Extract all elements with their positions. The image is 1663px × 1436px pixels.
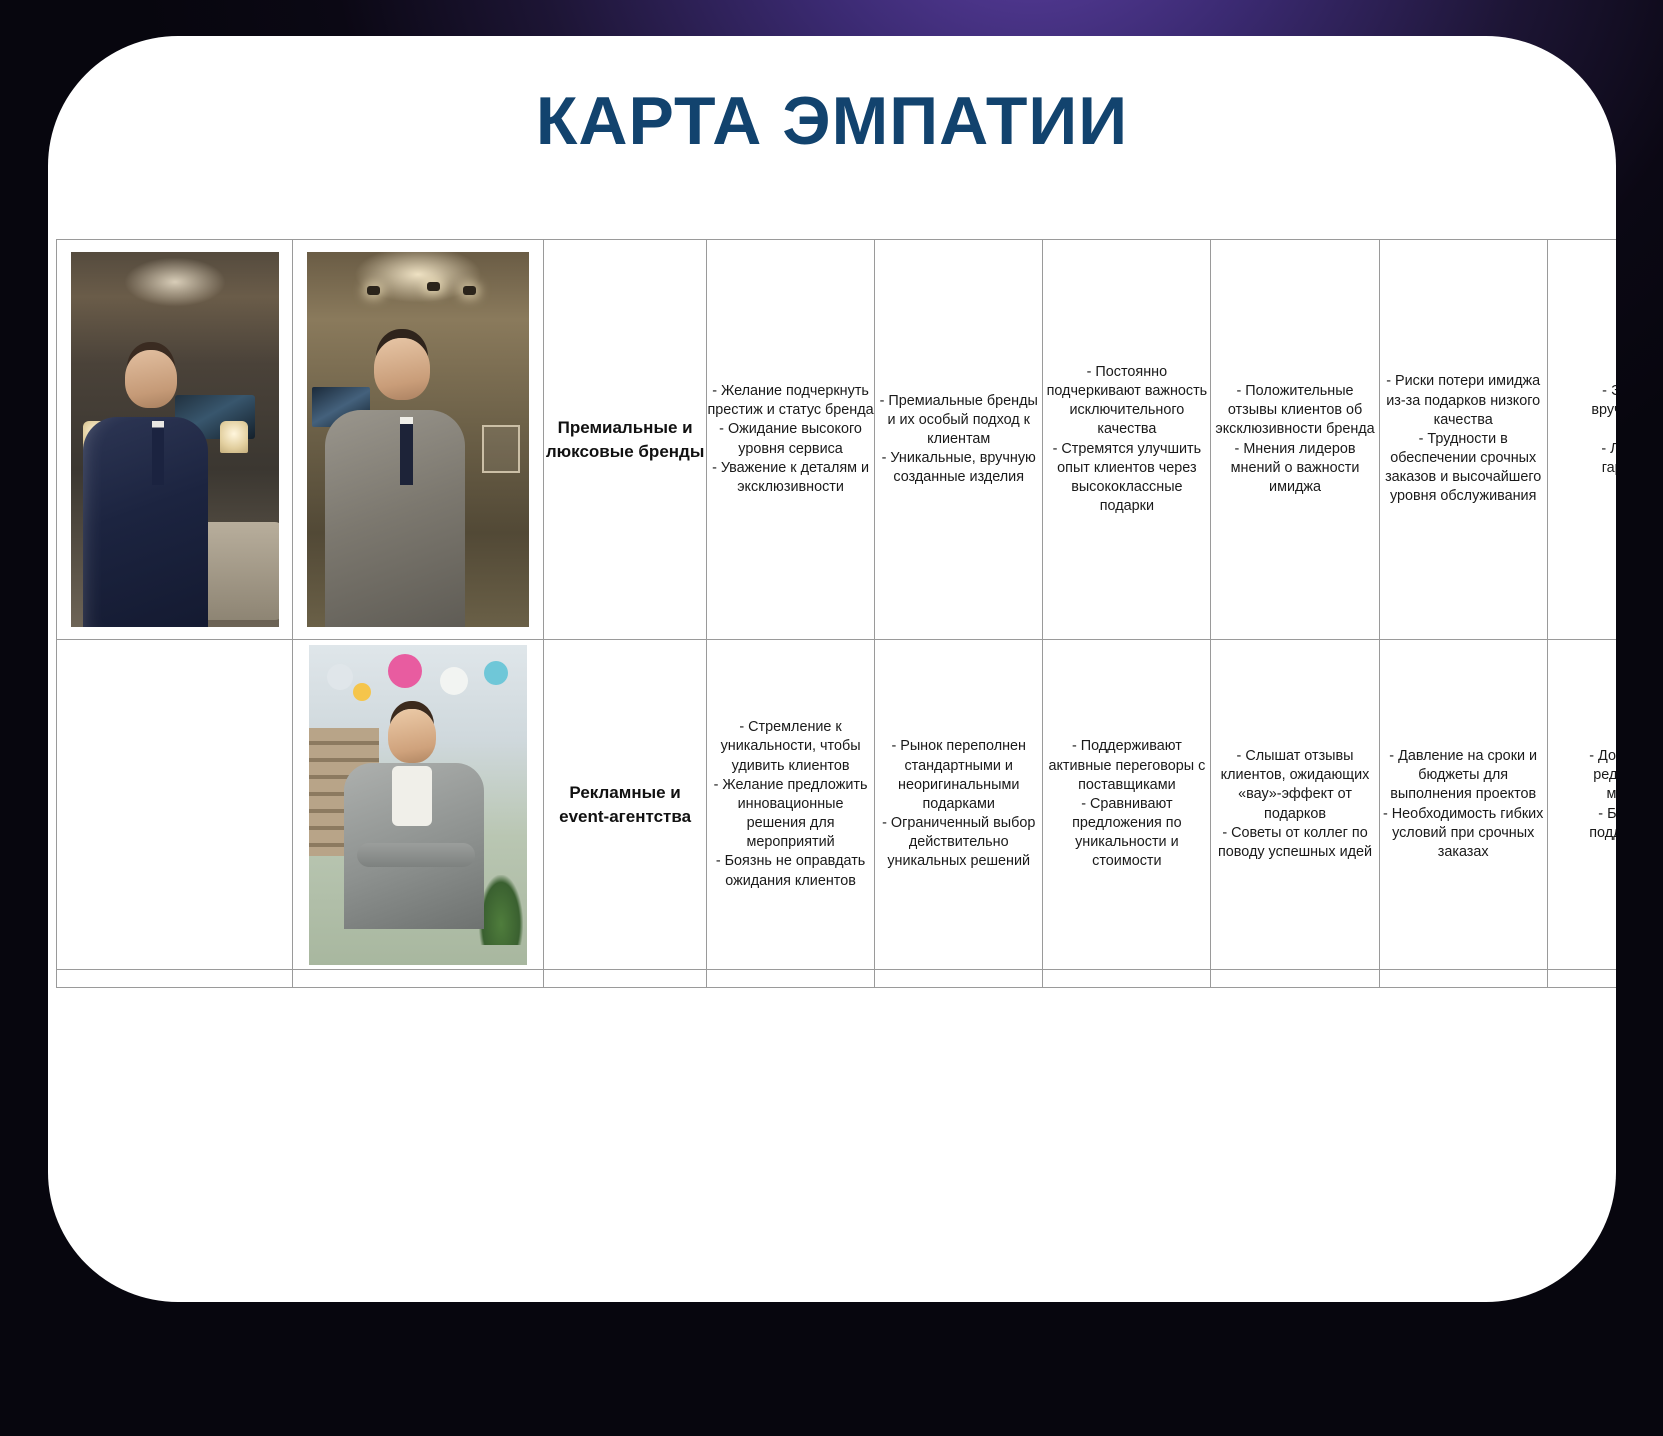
shirt-shape bbox=[392, 766, 432, 826]
paper-lantern-icon bbox=[440, 667, 468, 695]
row-3-hear-cell bbox=[1211, 970, 1379, 988]
row-3-think-feel-cell bbox=[706, 970, 874, 988]
cell-think-feel-premium: - Желание подчеркнуть престиж и статус б… bbox=[706, 240, 874, 640]
lamp-icon bbox=[220, 421, 248, 453]
cell-gains-agencies: - Доступ к кр редким под меропр - Быстра… bbox=[1547, 640, 1616, 970]
row-1-photo-a-cell bbox=[57, 240, 293, 640]
row-3-photo-a-cell bbox=[57, 970, 293, 988]
spotlight-icon bbox=[463, 286, 476, 295]
lamp-icon bbox=[83, 421, 109, 451]
paper-lantern-icon bbox=[353, 683, 371, 701]
creative-agency-manager-photo bbox=[309, 645, 527, 965]
cell-gains-premium: - Эксклю вручную изг пода - Личный гаран… bbox=[1547, 240, 1616, 640]
premium-executive-grey-suit-photo bbox=[307, 252, 529, 627]
segment-label-agencies: Рекламные и event-агентства bbox=[544, 640, 707, 970]
cell-think-feel-agencies: - Стремление к уникальности, чтобы удиви… bbox=[706, 640, 874, 970]
cell-pains-agencies: - Давление на сроки и бюджеты для выполн… bbox=[1379, 640, 1547, 970]
paper-lantern-icon bbox=[388, 654, 422, 688]
shelf-shape bbox=[309, 728, 379, 856]
row-2-photo-b-cell bbox=[293, 640, 544, 970]
spotlight-icon bbox=[427, 282, 440, 291]
table-row: Премиальные и люксовые бренды - Желание … bbox=[57, 240, 1617, 640]
sofa-shape bbox=[154, 522, 279, 620]
cell-say-do-premium: - Постоянно подчеркивают важность исключ… bbox=[1043, 240, 1211, 640]
wall-art-shape bbox=[312, 387, 370, 427]
row-3-photo-b-cell bbox=[293, 970, 544, 988]
white-content-card: КАРТА ЭМПАТИИ bbox=[48, 36, 1616, 1302]
row-1-photo-b-cell bbox=[293, 240, 544, 640]
necktie-shape bbox=[400, 417, 413, 485]
empathy-map-table: Премиальные и люксовые бренды - Желание … bbox=[56, 239, 1616, 988]
cell-see-premium: - Премиальные бренды и их особый подход … bbox=[875, 240, 1043, 640]
segment-label-premium: Премиальные и люксовые бренды bbox=[544, 240, 707, 640]
row-3-see-cell bbox=[875, 970, 1043, 988]
necktie-shape bbox=[152, 421, 164, 485]
spotlight-icon bbox=[367, 286, 380, 295]
row-3-segment-cell bbox=[544, 970, 707, 988]
paper-lantern-icon bbox=[327, 664, 353, 690]
row-3-gains-cell bbox=[1547, 970, 1616, 988]
display-case-shape bbox=[482, 425, 520, 473]
paper-lantern-icon bbox=[484, 661, 508, 685]
row-2-photo-a-cell bbox=[57, 640, 293, 970]
row-3-say-do-cell bbox=[1043, 970, 1211, 988]
row-3-pains-cell bbox=[1379, 970, 1547, 988]
slide-canvas: КАРТА ЭМПАТИИ bbox=[0, 0, 1663, 1436]
cell-pains-premium: - Риски потери имиджа из-за подарков низ… bbox=[1379, 240, 1547, 640]
cell-hear-agencies: - Слышат отзывы клиентов, ожидающих «вау… bbox=[1211, 640, 1379, 970]
crossed-arms-shape bbox=[357, 843, 475, 867]
cell-see-agencies: - Рынок переполнен стандартными и неориг… bbox=[875, 640, 1043, 970]
table-row: Рекламные и event-агентства - Стремление… bbox=[57, 640, 1617, 970]
premium-executive-navy-suit-photo bbox=[71, 252, 279, 627]
page-title: КАРТА ЭМПАТИИ bbox=[48, 82, 1616, 160]
table-row-partial bbox=[57, 970, 1617, 988]
cell-say-do-agencies: - Поддерживают активные переговоры с пос… bbox=[1043, 640, 1211, 970]
art-supplies-shape bbox=[318, 888, 519, 952]
cell-hear-premium: - Положительные отзывы клиентов об экскл… bbox=[1211, 240, 1379, 640]
